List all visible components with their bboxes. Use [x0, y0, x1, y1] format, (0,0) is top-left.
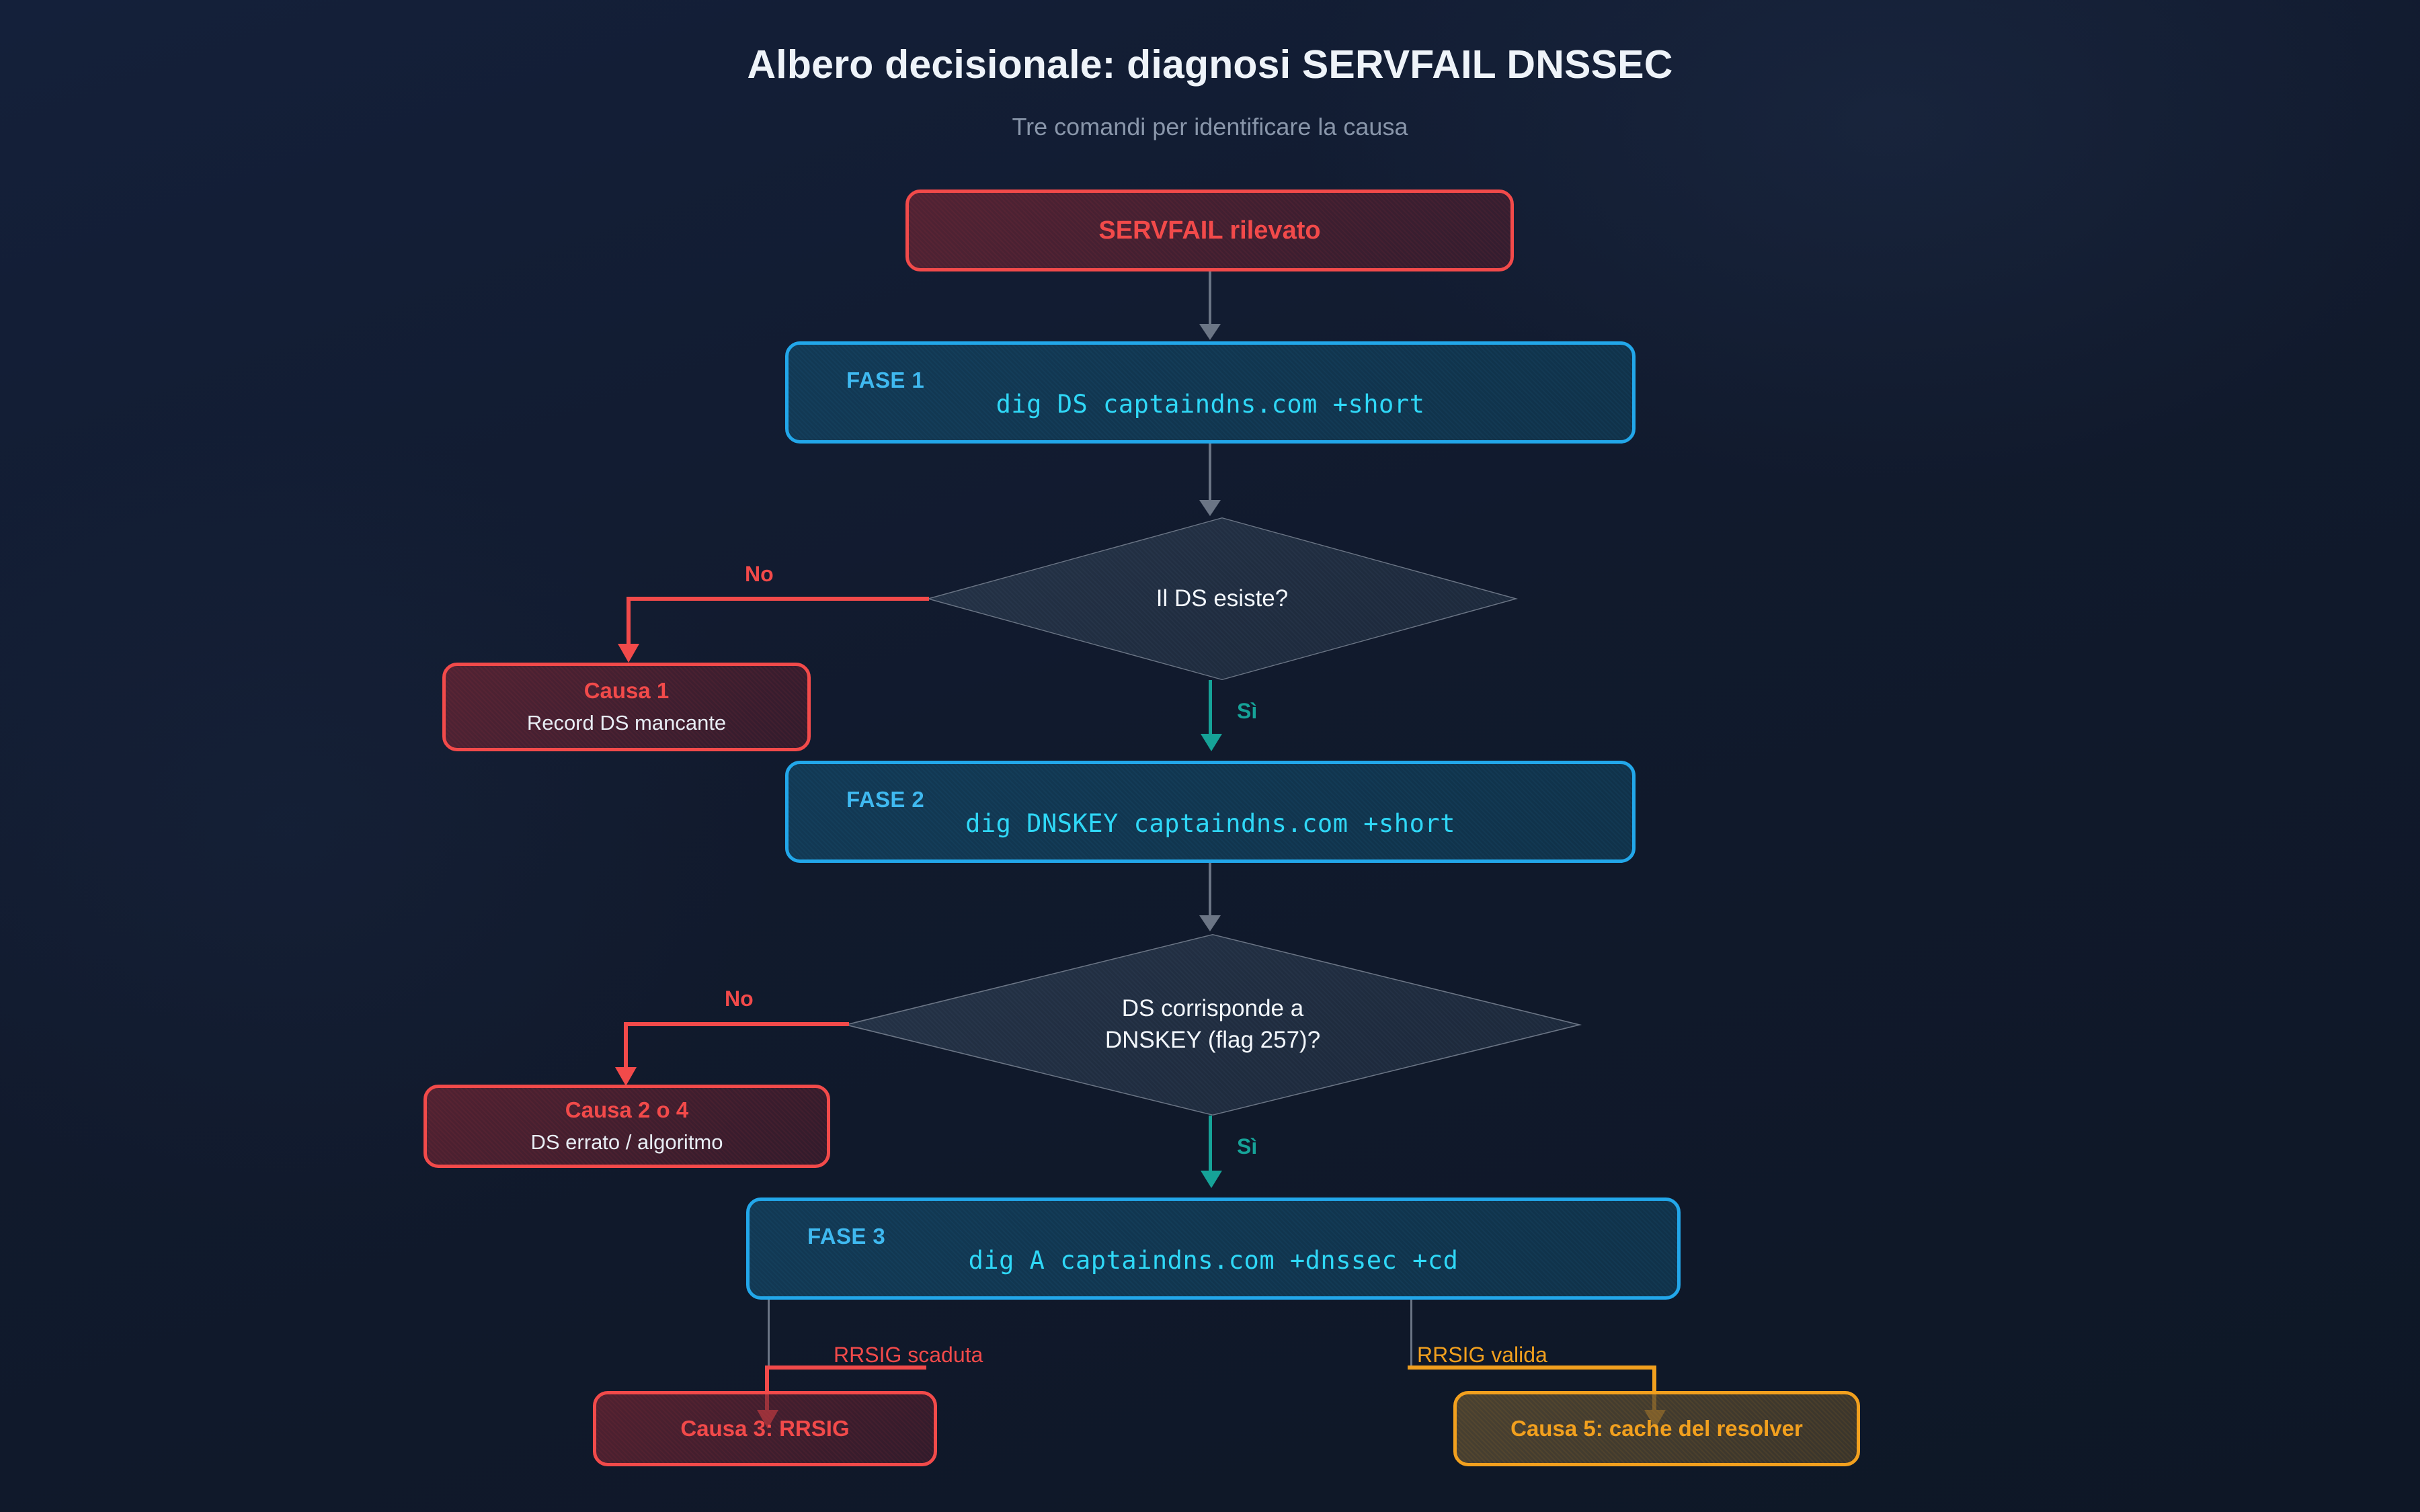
- node-fase-2-label: FASE 2: [846, 787, 924, 812]
- connector-line: [624, 1022, 849, 1026]
- edge-label-rrsig-scaduta: RRSIG scaduta: [834, 1343, 983, 1368]
- decision-il-ds-esiste[interactable]: Il DS esiste?: [926, 517, 1518, 680]
- page-title: Albero decisionale: diagnosi SERVFAIL DN…: [0, 42, 2420, 87]
- arrowhead-icon: [615, 1067, 637, 1086]
- connector-line: [1209, 1116, 1212, 1173]
- node-causa-5-cache-resolver[interactable]: Causa 5: cache del resolver: [1453, 1391, 1860, 1466]
- arrowhead-icon: [1201, 1171, 1222, 1188]
- connector-line: [1209, 863, 1211, 918]
- node-causa-2-subtitle: DS errato / algoritmo: [531, 1130, 723, 1154]
- arrowhead-icon: [1201, 734, 1222, 751]
- connector-line: [768, 1300, 770, 1368]
- decision-2-line-1: DS corrisponde a: [1122, 995, 1303, 1021]
- edge-label-si-2: Sì: [1237, 1134, 1257, 1159]
- node-fase-3-command: dig A captaindns.com +dnssec +cd: [969, 1246, 1459, 1275]
- edge-label-no-1: No: [745, 562, 774, 587]
- connector-line: [1209, 271, 1211, 327]
- decision-1-text: Il DS esiste?: [1156, 583, 1288, 615]
- connector-line: [1410, 1300, 1412, 1368]
- node-fase-1-label: FASE 1: [846, 368, 924, 393]
- node-causa-3-label: Causa 3: RRSIG: [680, 1416, 849, 1441]
- node-causa-1[interactable]: Causa 1 Record DS mancante: [442, 663, 811, 751]
- node-fase-3-label: FASE 3: [807, 1224, 885, 1249]
- page-subtitle: Tre comandi per identificare la causa: [0, 113, 2420, 141]
- node-fase-1-command: dig DS captaindns.com +short: [996, 390, 1425, 419]
- node-causa-3-rrsig[interactable]: Causa 3: RRSIG: [593, 1391, 937, 1466]
- node-causa-1-title: Causa 1: [584, 678, 670, 704]
- connector-line: [627, 597, 631, 648]
- edge-label-si-1: Sì: [1237, 699, 1257, 724]
- arrowhead-icon: [1199, 915, 1221, 931]
- node-fase-2-command: dig DNSKEY captaindns.com +short: [965, 809, 1455, 838]
- diagram-canvas: Albero decisionale: diagnosi SERVFAIL DN…: [0, 0, 2420, 1512]
- connector-line: [624, 1022, 628, 1070]
- connector-line: [627, 597, 929, 601]
- decision-ds-corrisponde-dnskey[interactable]: DS corrisponde a DNSKEY (flag 257)?: [844, 934, 1582, 1116]
- node-causa-2-o-4[interactable]: Causa 2 o 4 DS errato / algoritmo: [424, 1085, 830, 1168]
- node-start-label: SERVFAIL rilevato: [1098, 216, 1320, 245]
- connector-line: [1209, 680, 1212, 737]
- decision-2-text: DS corrisponde a DNSKEY (flag 257)?: [1105, 993, 1320, 1056]
- node-fase-3[interactable]: FASE 3 dig A captaindns.com +dnssec +cd: [746, 1198, 1681, 1300]
- arrowhead-icon: [618, 644, 639, 663]
- node-servfail-rilevato[interactable]: SERVFAIL rilevato: [905, 190, 1514, 271]
- edge-label-rrsig-valida: RRSIG valida: [1417, 1343, 1547, 1368]
- edge-label-no-2: No: [725, 986, 754, 1011]
- arrowhead-icon: [1199, 324, 1221, 340]
- node-causa-1-subtitle: Record DS mancante: [527, 710, 726, 735]
- node-causa-2-title: Causa 2 o 4: [565, 1097, 688, 1123]
- node-fase-1[interactable]: FASE 1 dig DS captaindns.com +short: [785, 341, 1636, 444]
- arrowhead-icon: [1199, 500, 1221, 516]
- node-fase-2[interactable]: FASE 2 dig DNSKEY captaindns.com +short: [785, 761, 1636, 863]
- node-causa-5-label: Causa 5: cache del resolver: [1510, 1416, 1803, 1441]
- decision-2-line-2: DNSKEY (flag 257)?: [1105, 1027, 1320, 1053]
- connector-line: [1209, 444, 1211, 501]
